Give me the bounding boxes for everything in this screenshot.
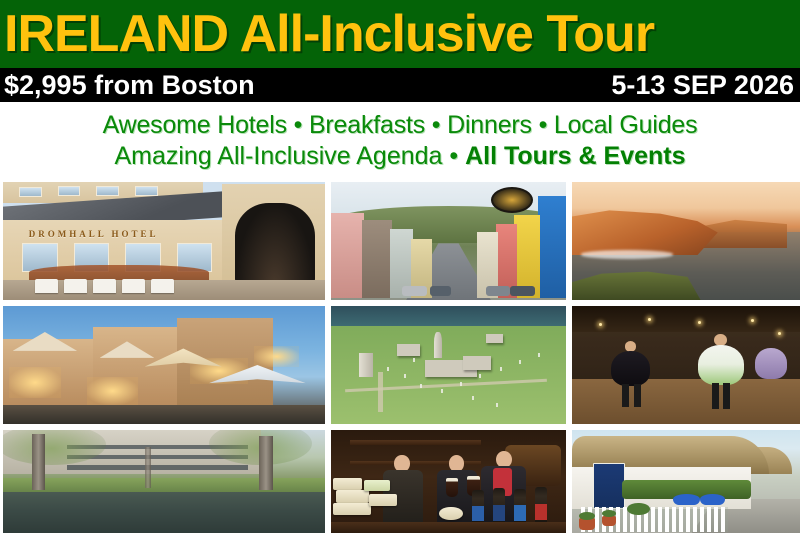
dancer-costume-dark — [611, 351, 650, 386]
gravestone — [500, 367, 502, 371]
visitor-path — [378, 372, 383, 412]
bottle-label — [514, 505, 526, 520]
dancer-leg — [622, 384, 629, 408]
blue-cottage-door — [593, 463, 625, 509]
bottle-label — [493, 505, 505, 521]
ruined-tower — [359, 353, 373, 377]
tree-trunk — [32, 434, 45, 490]
dancer-leg — [723, 383, 730, 409]
gravestone — [404, 374, 406, 378]
pub-hanging-sign — [491, 187, 533, 213]
gravestone — [538, 353, 540, 357]
feature-tours-events-text: All Tours & Events — [465, 142, 685, 170]
bar-counter — [331, 522, 566, 533]
village-building — [538, 196, 566, 297]
flower-pot — [579, 518, 595, 529]
parked-car — [402, 286, 428, 297]
cheese-wedge — [364, 480, 390, 491]
hotel-terrace — [3, 405, 325, 424]
price-label: $2,995 from Boston — [4, 72, 255, 99]
window-glow — [87, 377, 139, 405]
dancer-costume-lilac — [755, 348, 787, 379]
breaking-surf — [581, 250, 673, 258]
hotel-entrance-arch — [235, 203, 316, 281]
dancer-leg — [712, 383, 719, 409]
garden-chair — [122, 279, 145, 293]
garden-chair — [35, 279, 58, 293]
hotel-window — [19, 187, 42, 198]
gravestone — [441, 389, 443, 393]
photo-irish-dancers — [572, 306, 800, 424]
ceiling-light — [751, 319, 754, 322]
photo-village-street — [331, 182, 566, 300]
hotel-window — [135, 186, 158, 197]
tour-poster: IRELAND All-Inclusive Tour $2,995 from B… — [0, 0, 800, 533]
photo-pub-food-drink — [331, 430, 566, 533]
window-glow — [254, 346, 299, 367]
page-title: IRELAND All-Inclusive Tour — [0, 8, 654, 60]
photo-dromhall-hotel: DROMHALL HOTEL — [3, 182, 325, 300]
village-building — [331, 213, 364, 298]
parked-car — [510, 286, 536, 297]
tree-trunk — [145, 447, 151, 489]
cheese-wheel — [336, 490, 369, 502]
church-ruin — [486, 334, 502, 342]
feature-list: Awesome Hotels • Breakfasts • Dinners • … — [0, 102, 800, 180]
window-glow — [9, 367, 61, 398]
photo-lit-hotel-dusk — [3, 306, 325, 424]
hotel-window-band — [67, 465, 247, 469]
hotel-window — [96, 186, 119, 197]
gravestone — [472, 396, 474, 400]
hotel-sign-text: DROMHALL HOTEL — [29, 229, 159, 239]
hotel-window — [58, 186, 81, 197]
gravestone — [460, 382, 462, 386]
church-ruin — [397, 344, 421, 356]
dancer-leg — [634, 384, 641, 408]
photo-gallery-grid: DROMHALL HOTEL — [3, 182, 797, 532]
ceiling-light — [648, 318, 651, 321]
bottle-label — [535, 504, 547, 520]
bar-back-shelf — [350, 440, 482, 444]
pint-glass — [446, 478, 458, 497]
headline-banner: IRELAND All-Inclusive Tour — [0, 0, 800, 68]
price-date-bar: $2,995 from Boston 5-13 SEP 2026 — [0, 68, 800, 102]
dancer-costume-light — [698, 345, 744, 385]
parked-car — [486, 286, 510, 297]
cheese-wheel — [333, 503, 371, 515]
photo-monastic-site — [331, 306, 566, 424]
river-reflection — [3, 492, 325, 533]
garden-shrub — [627, 503, 650, 515]
church-ruin — [463, 356, 491, 370]
tree-trunk — [259, 436, 273, 490]
garden-chair — [64, 279, 87, 293]
gravestone — [420, 384, 422, 388]
feature-agenda-text: Amazing All-Inclusive Agenda • — [114, 142, 465, 170]
gravestone — [387, 367, 389, 371]
parked-car — [430, 286, 451, 297]
gravestone — [519, 360, 521, 364]
cheese-wheel — [333, 478, 361, 490]
river-shannon — [331, 306, 566, 326]
flower-pot — [602, 516, 616, 525]
photo-cliffs-of-moher — [572, 182, 800, 300]
feature-line-inclusions: Awesome Hotels • Breakfasts • Dinners • … — [103, 111, 698, 141]
gravestone — [479, 374, 481, 378]
blue-parasol — [700, 494, 725, 504]
cheese-wedge — [369, 494, 397, 505]
garden-chair — [93, 279, 116, 293]
gravestone — [496, 403, 498, 407]
gravestone — [413, 358, 415, 362]
village-building — [362, 220, 393, 298]
dance-floor — [572, 379, 800, 424]
photo-thatched-cottages — [572, 430, 800, 533]
blue-parasol — [673, 494, 700, 504]
round-tower — [434, 332, 442, 358]
bottle-label — [472, 506, 484, 521]
feature-line-agenda: Amazing All-Inclusive Agenda • All Tours… — [114, 142, 685, 172]
dates-label: 5-13 SEP 2026 — [611, 72, 794, 99]
garden-chair — [151, 279, 174, 293]
photo-riverside-hotel — [3, 430, 325, 533]
